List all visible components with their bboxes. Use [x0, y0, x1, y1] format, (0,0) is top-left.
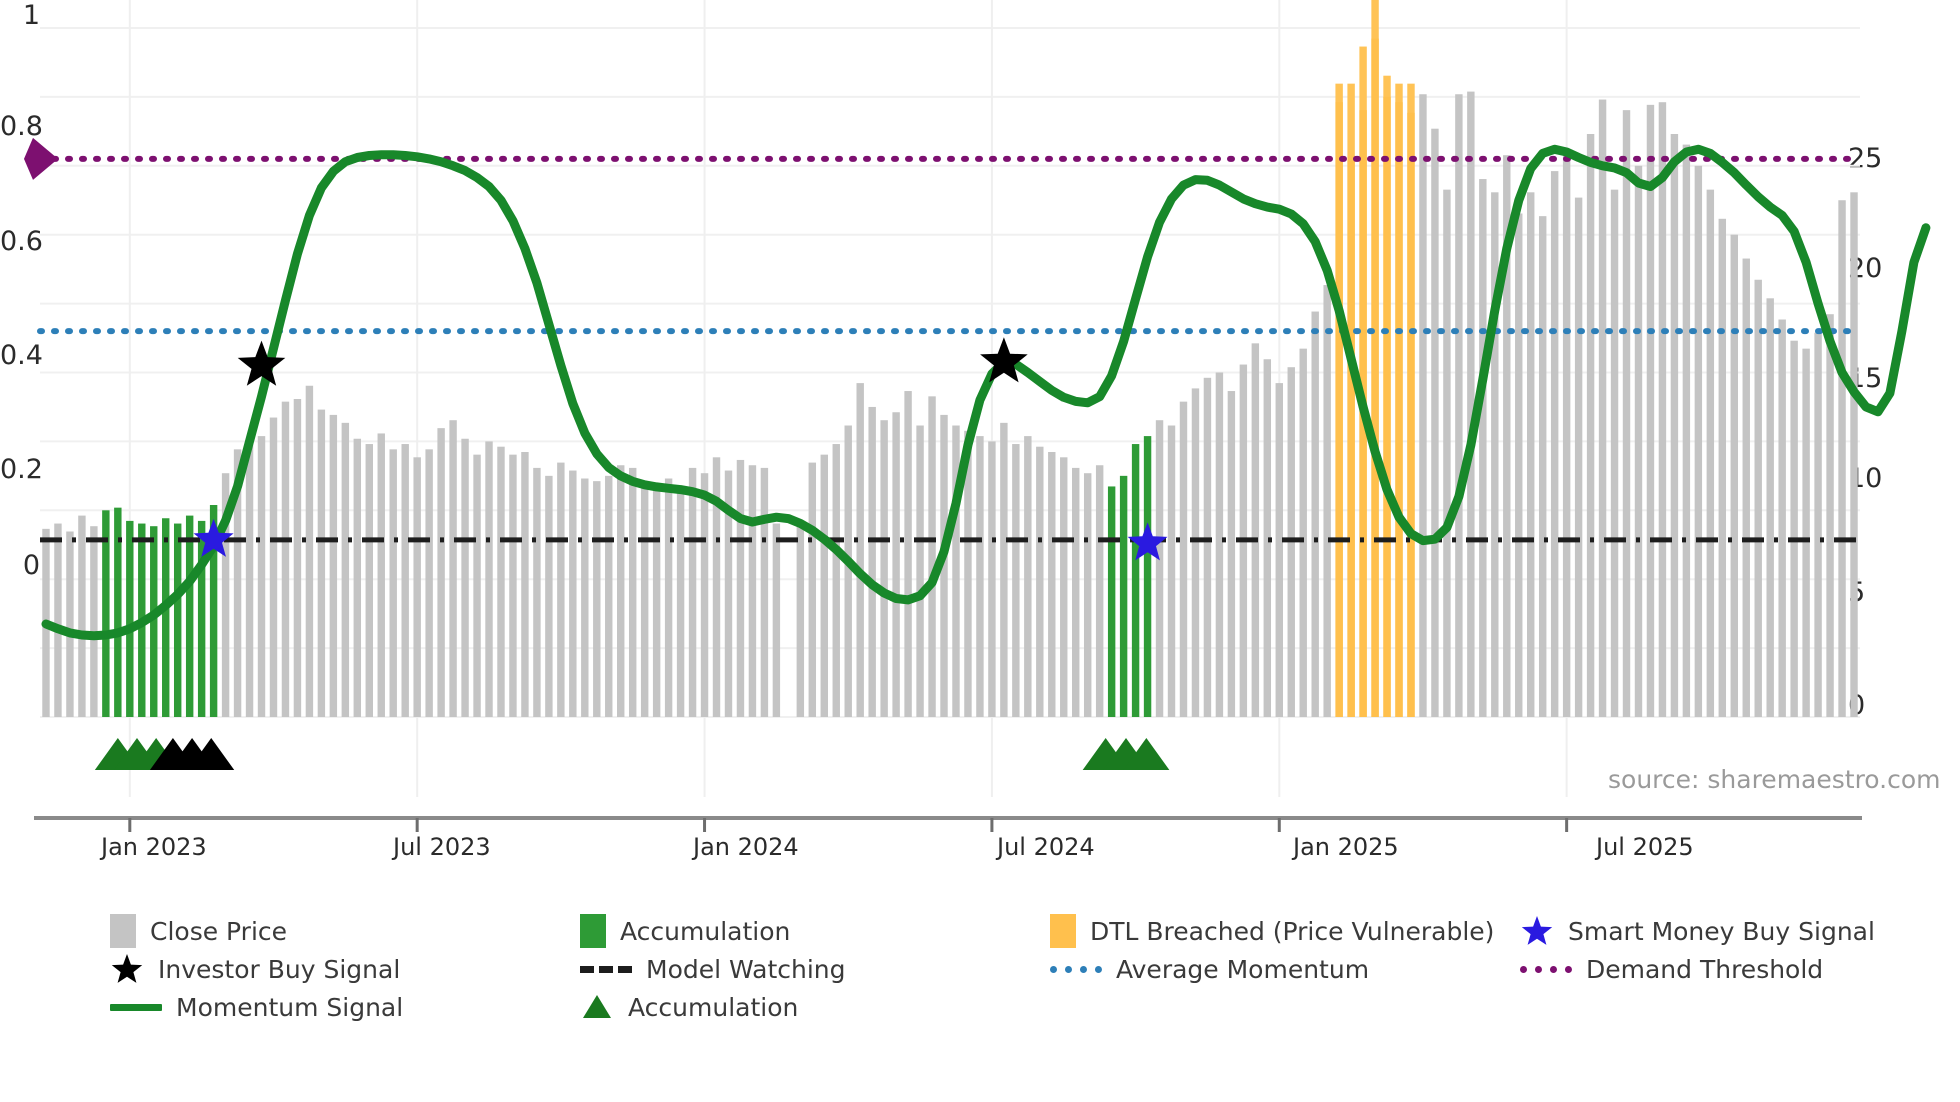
close-price-bar	[1228, 391, 1235, 717]
legend-item-average-momentum[interactable]: Average Momentum	[1050, 955, 1520, 984]
legend-label: Smart Money Buy Signal	[1568, 917, 1875, 946]
close-price-bar	[342, 423, 349, 717]
close-price-bar	[617, 465, 624, 717]
legend-item-close-price[interactable]: Close Price	[110, 914, 580, 948]
close-price-bar	[545, 476, 552, 717]
close-price-bar	[593, 481, 600, 717]
close-price-bar	[366, 444, 373, 717]
close-price-bar	[354, 439, 361, 717]
close-price-bar	[1060, 457, 1067, 717]
y-axis-left-tick-5: 1	[0, 0, 40, 31]
close-price-bar	[1036, 447, 1043, 717]
legend-item-investor-buy-signal[interactable]: Investor Buy Signal	[110, 952, 580, 986]
close-price-bar	[1599, 100, 1606, 717]
close-price-bar	[1000, 423, 1007, 717]
chart-canvas: 0 0.2 0.4 0.6 0.8 1 0 5 10 15 20 25 Jan …	[0, 0, 1960, 1102]
close-price-bar	[1814, 333, 1821, 717]
dtl-breached-bar	[1395, 84, 1402, 717]
close-price-bar	[1695, 166, 1702, 717]
close-price-bar	[1168, 426, 1175, 718]
close-price-bar	[1156, 420, 1163, 717]
close-price-bar	[1623, 110, 1630, 717]
close-price-bar	[916, 426, 923, 718]
close-price-bar	[521, 452, 528, 717]
close-price-bar	[390, 449, 397, 717]
demand-threshold-marker	[24, 138, 58, 180]
close-price-bar	[928, 396, 935, 717]
close-price-bar	[1778, 320, 1785, 718]
close-price-bar	[749, 465, 756, 717]
close-price-bar	[1048, 452, 1055, 717]
legend-swatch-dotted-icon	[1520, 966, 1572, 973]
close-price-bar	[1575, 198, 1582, 717]
legend-item-momentum-signal[interactable]: Momentum Signal	[110, 993, 580, 1022]
plot-area	[40, 0, 1870, 830]
close-price-bar	[1012, 444, 1019, 717]
close-price-bar	[1755, 280, 1762, 717]
close-price-bar	[1527, 192, 1534, 717]
close-price-bar	[904, 391, 911, 717]
close-price-bar	[318, 410, 325, 717]
close-price-bar	[641, 484, 648, 717]
x-axis-tick-jul-2023: Jul 2023	[393, 833, 491, 861]
legend-item-demand-threshold[interactable]: Demand Threshold	[1520, 955, 1910, 984]
close-price-bar	[1192, 388, 1199, 717]
close-price-bar	[761, 468, 768, 717]
close-price-bar	[737, 460, 744, 717]
legend-swatch-square-icon	[1050, 914, 1076, 948]
close-price-bar	[1587, 134, 1594, 717]
close-price-bar	[1790, 341, 1797, 717]
legend-label: Accumulation	[628, 993, 798, 1022]
x-axis-tick-jul-2024: Jul 2024	[997, 833, 1095, 861]
close-price-bar	[833, 444, 840, 717]
close-price-bar	[1731, 235, 1738, 717]
close-price-bar	[1467, 92, 1474, 717]
close-price-bar	[557, 463, 564, 717]
accumulation-bar	[1144, 436, 1151, 717]
close-price-bar	[1647, 105, 1654, 717]
close-price-bar	[1084, 473, 1091, 717]
legend-item-smart-money-buy-signal[interactable]: Smart Money Buy Signal	[1520, 914, 1910, 948]
legend-swatch-line-icon	[110, 1004, 162, 1011]
close-price-bar	[701, 473, 708, 717]
legend-item-accumulation-bar[interactable]: Accumulation	[580, 914, 1050, 948]
close-price-bar	[892, 412, 899, 717]
close-price-bar	[1311, 312, 1318, 717]
x-axis-tick-jan-2025: Jan 2025	[1293, 833, 1399, 861]
close-price-bar	[1072, 468, 1079, 717]
legend-label: Investor Buy Signal	[158, 955, 400, 984]
legend-label: Average Momentum	[1116, 955, 1369, 984]
dtl-breached-bar	[1347, 84, 1354, 717]
accumulation-bar	[162, 518, 169, 717]
close-price-bar	[1683, 145, 1690, 717]
close-price-bar	[54, 524, 61, 717]
y-axis-left-tick-2: 0.4	[0, 340, 40, 371]
close-price-bar	[845, 426, 852, 718]
legend-swatch-square-icon	[110, 914, 136, 948]
close-price-bar	[1850, 192, 1857, 717]
legend-label: DTL Breached (Price Vulnerable)	[1090, 917, 1494, 946]
legend-label: Model Watching	[646, 955, 846, 984]
y-axis-left-tick-3: 0.6	[0, 226, 40, 257]
close-price-bar	[258, 436, 265, 717]
close-price-bar	[1635, 166, 1642, 717]
close-price-bar	[413, 457, 420, 717]
close-price-bar	[485, 441, 492, 717]
legend-label: Close Price	[150, 917, 287, 946]
close-price-bar	[497, 447, 504, 717]
close-price-bar	[569, 471, 576, 717]
close-price-bar	[1707, 190, 1714, 717]
close-price-bar	[988, 441, 995, 717]
close-price-bar	[461, 439, 468, 717]
legend-swatch-dotted-icon	[1050, 966, 1102, 973]
x-axis-tick-jan-2023: Jan 2023	[101, 833, 207, 861]
close-price-bar	[1671, 134, 1678, 717]
close-price-bar	[1611, 190, 1618, 717]
close-price-bar	[1455, 94, 1462, 717]
close-price-bar	[473, 455, 480, 717]
dtl-breached-bar	[1407, 84, 1414, 717]
close-price-bar	[1719, 219, 1726, 717]
close-price-bar	[1216, 373, 1223, 718]
legend-label: Demand Threshold	[1586, 955, 1823, 984]
close-price-bar	[1826, 314, 1833, 717]
close-price-bar	[533, 468, 540, 717]
close-price-bar	[270, 418, 277, 717]
close-price-bar	[1431, 129, 1438, 717]
close-price-bar	[773, 524, 780, 717]
close-price-bar	[1323, 285, 1330, 717]
legend-item-model-watching[interactable]: Model Watching	[580, 955, 1050, 984]
close-price-bar	[1252, 343, 1259, 717]
close-price-bar	[425, 449, 432, 717]
close-price-bar	[677, 489, 684, 717]
y-axis-left-tick-4: 0.8	[0, 111, 40, 142]
close-price-bar	[294, 399, 301, 717]
close-price-bar	[90, 526, 97, 717]
close-price-bar	[821, 455, 828, 717]
close-price-bar	[868, 407, 875, 717]
close-price-bar	[1204, 378, 1211, 717]
legend-swatch-square-icon	[580, 914, 606, 948]
close-price-bar	[605, 476, 612, 717]
close-price-bar	[1515, 214, 1522, 718]
legend-swatch-star-icon	[110, 952, 144, 986]
close-price-bar	[1419, 94, 1426, 717]
close-price-bar	[246, 444, 253, 717]
close-price-bar	[1838, 200, 1845, 717]
close-price-bar	[1180, 402, 1187, 717]
close-price-bar	[809, 463, 816, 717]
close-price-bar	[449, 420, 456, 717]
close-price-bar	[1551, 171, 1558, 717]
close-price-bar	[976, 436, 983, 717]
close-price-bar	[1024, 436, 1031, 717]
x-axis-tick-jan-2024: Jan 2024	[693, 833, 799, 861]
close-price-bar	[653, 486, 660, 717]
legend-label: Accumulation	[620, 917, 790, 946]
dtl-breached-bar	[1371, 0, 1378, 717]
legend-item-dtl-breached[interactable]: DTL Breached (Price Vulnerable)	[1050, 914, 1520, 948]
close-price-bar	[306, 386, 313, 717]
legend-item-accumulation-triangle[interactable]: Accumulation	[580, 990, 1050, 1024]
dtl-breached-bar	[1335, 84, 1342, 717]
accumulation-bar	[174, 524, 181, 717]
close-price-bar	[1276, 383, 1283, 717]
close-price-bar	[1491, 192, 1498, 717]
chart-legend: Close PriceAccumulationDTL Breached (Pri…	[110, 912, 1910, 1026]
close-price-bar	[665, 479, 672, 718]
close-price-bar	[797, 524, 804, 717]
x-axis-tick-jul-2025: Jul 2025	[1596, 833, 1694, 861]
accumulation-bar	[1108, 486, 1115, 717]
close-price-bar	[509, 455, 516, 717]
close-price-bar	[689, 468, 696, 717]
close-price-bar	[66, 532, 73, 718]
y-axis-left-tick-1: 0.2	[0, 454, 40, 485]
close-price-bar	[1766, 298, 1773, 717]
close-price-bars	[42, 39, 1857, 717]
close-price-bar	[437, 428, 444, 717]
close-price-bar	[330, 415, 337, 717]
accumulation-bar	[186, 516, 193, 717]
y-axis-left-tick-0: 0	[0, 550, 40, 581]
accumulation-bar	[1120, 476, 1127, 717]
close-price-bar	[1743, 259, 1750, 717]
close-price-bar	[378, 433, 385, 717]
dtl-breached-bar	[1383, 76, 1390, 717]
momentum-signal-line	[46, 149, 1926, 635]
close-price-bar	[1659, 102, 1666, 717]
legend-label: Momentum Signal	[176, 993, 403, 1022]
accumulation-bar	[126, 521, 133, 717]
close-price-bar	[282, 402, 289, 717]
close-price-bar	[78, 516, 85, 717]
close-price-bar	[1539, 216, 1546, 717]
close-price-bar	[856, 383, 863, 717]
legend-swatch-star-icon	[1520, 914, 1554, 948]
close-price-bar	[629, 468, 636, 717]
legend-swatch-triangle-icon	[580, 990, 614, 1024]
close-price-bar	[401, 444, 408, 717]
close-price-bar	[1096, 465, 1103, 717]
close-price-bar	[1479, 179, 1486, 717]
legend-swatch-dash-icon	[580, 966, 632, 973]
close-price-bar	[1443, 190, 1450, 717]
close-price-bar	[880, 420, 887, 717]
close-price-bar	[1563, 155, 1570, 717]
close-price-bar	[1802, 349, 1809, 717]
close-price-bar	[581, 479, 588, 718]
accumulation-bar	[1132, 444, 1139, 717]
close-price-bar	[1300, 349, 1307, 717]
